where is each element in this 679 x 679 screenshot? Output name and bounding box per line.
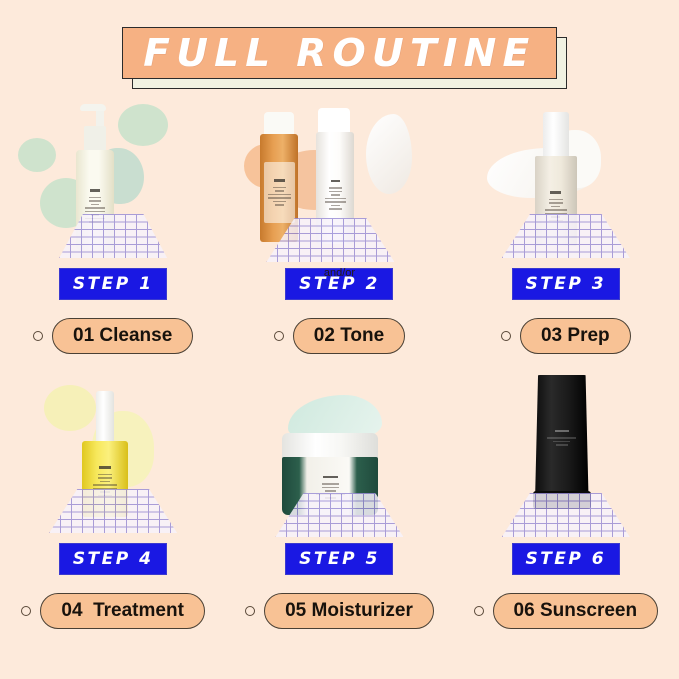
page-title-banner: FULL ROUTINE <box>122 27 557 79</box>
step-pill-4[interactable]: 04 Treatment <box>40 593 205 629</box>
product-image-serum-prep <box>453 96 679 264</box>
dropper-cap <box>96 391 114 443</box>
step-pill-label: 03 Prep <box>541 325 610 347</box>
bullet-circle-icon <box>21 606 31 616</box>
grid-mat <box>49 489 177 533</box>
step-pill-5[interactable]: 05 Moisturizer <box>264 593 434 629</box>
step-badge-6: STEP 6 <box>512 543 620 575</box>
step-badge-1: STEP 1 <box>59 268 167 300</box>
grid-mat <box>502 214 630 258</box>
product-image-cleanser <box>0 96 226 264</box>
product-image-treatment-serum <box>0 371 226 539</box>
step-label-row-3[interactable]: 03 Prep <box>501 318 631 354</box>
step-badge-label: STEP 6 <box>525 549 606 569</box>
step-badge-3: STEP 3 <box>512 268 620 300</box>
step-pill-label: 02 Tone <box>314 325 384 347</box>
step-cell-5[interactable]: STEP 5 05 Moisturizer <box>226 371 452 646</box>
step-label-row-1[interactable]: 01 Cleanse <box>33 318 193 354</box>
product-image-moisturizer <box>226 371 452 539</box>
step-cell-1[interactable]: STEP 1 01 Cleanse <box>0 96 226 371</box>
step-badge-label: STEP 3 <box>525 274 606 294</box>
step-pill-label: 05 Moisturizer <box>285 600 413 622</box>
bullet-circle-icon <box>474 606 484 616</box>
step-pill-label: 01 Cleanse <box>73 325 172 347</box>
step-cell-4[interactable]: STEP 4 04 Treatment <box>0 371 226 646</box>
step-label-row-6[interactable]: 06 Sunscreen <box>474 593 659 629</box>
step-label-row-5[interactable]: 05 Moisturizer <box>245 593 434 629</box>
step-pill-2[interactable]: 02 Tone <box>293 318 405 354</box>
step-pill-label: 06 Sunscreen <box>514 600 638 622</box>
toner-cap <box>264 112 294 136</box>
bullet-circle-icon <box>274 331 284 341</box>
and-or-note: and/or <box>324 267 355 279</box>
step-cell-6[interactable]: STEP 6 06 Sunscreen <box>453 371 679 646</box>
step-pill-6[interactable]: 06 Sunscreen <box>493 593 659 629</box>
title-box: FULL ROUTINE <box>122 27 557 79</box>
cream-swoosh <box>366 114 412 194</box>
bullet-circle-icon <box>33 331 43 341</box>
gel-blob <box>18 138 56 172</box>
sunscreen-tube <box>535 375 589 509</box>
pump-nozzle <box>80 104 106 111</box>
step-pill-label: 04 Treatment <box>61 600 184 622</box>
step-badge-5: STEP 5 <box>285 543 393 575</box>
product-image-sunscreen <box>453 371 679 539</box>
serum-blob <box>44 385 96 431</box>
step-badge-label: STEP 1 <box>73 274 154 294</box>
step-pill-1[interactable]: 01 Cleanse <box>52 318 193 354</box>
step-label-row-2[interactable]: 02 Tone <box>274 318 405 354</box>
pump-collar <box>84 126 106 152</box>
step-badge-4: STEP 4 <box>59 543 167 575</box>
product-image-toner: and/or <box>226 96 452 264</box>
jar-lid <box>282 433 378 459</box>
step-pill-3[interactable]: 03 Prep <box>520 318 631 354</box>
page-title: FULL ROUTINE <box>143 31 535 75</box>
step-badge-label: STEP 4 <box>73 549 154 569</box>
grid-mat <box>502 493 630 537</box>
routine-steps-grid: STEP 1 01 Cleanse <box>0 96 679 646</box>
step-cell-3[interactable]: STEP 3 03 Prep <box>453 96 679 371</box>
bullet-circle-icon <box>501 331 511 341</box>
serum-cap <box>543 112 569 158</box>
step-cell-2[interactable]: and/or STEP 2 02 Tone <box>226 96 452 371</box>
step-badge-label: STEP 5 <box>299 549 380 569</box>
step-label-row-4[interactable]: 04 Treatment <box>21 593 205 629</box>
bullet-circle-icon <box>245 606 255 616</box>
gel-blob <box>118 104 168 146</box>
milk-cap <box>318 108 350 134</box>
